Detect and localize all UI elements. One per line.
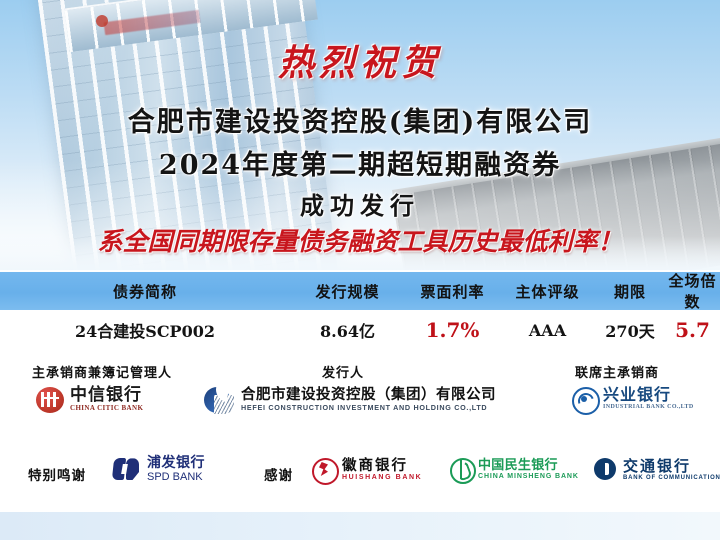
success-line: 成功发行	[0, 186, 720, 221]
hefei-group-icon	[204, 386, 234, 414]
bond-table-header: 债券简称 发行规模 票面利率 主体评级 期限 全场倍数	[0, 272, 720, 310]
citic-name-cn: 中信银行	[70, 387, 143, 405]
minsheng-bank-icon	[450, 458, 474, 482]
spd-name-cn: 浦发银行	[147, 456, 205, 471]
minsheng-name-cn: 中国民生银行	[478, 459, 579, 473]
logo-china-minsheng-bank: 中国民生银行 CHINA MINSHENG BANK	[450, 458, 579, 482]
industrial-bank-name-cn: 兴业银行	[603, 387, 694, 404]
col-header-issue-size: 发行规模	[290, 281, 405, 302]
bocom-icon	[594, 458, 618, 482]
bottom-accent-strip	[0, 512, 720, 540]
hero-text-block: 热烈祝贺 合肥市建设投资控股(集团)有限公司 2024年度第二期超短期融资券 成…	[0, 0, 720, 270]
label-lead-underwriter: 主承销商兼簿记管理人	[32, 362, 172, 381]
industrial-bank-icon	[572, 386, 598, 412]
hefei-name-cn: 合肥市建设投资控股（集团）有限公司	[241, 388, 496, 403]
participants-section: 主承销商兼簿记管理人 发行人 联席主承销商 中信银行 CHINA CITIC B…	[0, 350, 720, 540]
hefei-name-en: HEFEI CONSTRUCTION INVESTMENT AND HOLDIN…	[241, 404, 496, 412]
cell-issue-size: 8.64亿	[290, 318, 405, 342]
industrial-bank-name-en: INDUSTRIAL BANK CO.,LTD	[603, 404, 694, 411]
col-header-coupon-rate: 票面利率	[405, 281, 500, 302]
minsheng-name-en: CHINA MINSHENG BANK	[478, 473, 579, 481]
label-thanks: 感谢	[264, 464, 293, 484]
logo-industrial-bank: 兴业银行 INDUSTRIAL BANK CO.,LTD	[572, 386, 694, 412]
label-joint-underwriter: 联席主承销商	[575, 362, 659, 381]
role-labels-row: 主承销商兼簿记管理人 发行人 联席主承销商	[0, 362, 720, 378]
huishang-bank-icon	[312, 458, 337, 483]
citic-bank-icon	[36, 386, 64, 414]
cell-bond-name: 24合建投SCP002	[0, 318, 290, 342]
cell-issuer-rating: AAA	[500, 321, 595, 340]
company-name-line: 合肥市建设投资控股(集团)有限公司	[0, 100, 720, 139]
table-header-row: 债券简称 发行规模 票面利率 主体评级 期限 全场倍数	[0, 272, 720, 310]
label-special-thanks: 特别鸣谢	[28, 464, 86, 484]
thanks-row: 特别鸣谢 感谢 浦发银行 SPD BANK	[0, 454, 720, 494]
logo-huishang-bank: 徽商银行 HUISHANG BANK	[312, 458, 422, 483]
logo-spd-bank: 浦发银行 SPD BANK	[112, 456, 205, 483]
col-header-issuer-rating: 主体评级	[500, 281, 595, 302]
table-row: 24合建投SCP002 8.64亿 1.7% AAA 270天 5.7	[0, 310, 720, 350]
huishang-name-en: HUISHANG BANK	[342, 474, 422, 482]
hero-photo: 热烈祝贺 合肥市建设投资控股(集团)有限公司 2024年度第二期超短期融资券 成…	[0, 0, 720, 270]
cell-subscription-multiple: 5.7	[665, 318, 720, 342]
cell-term: 270天	[595, 318, 665, 342]
logo-bank-of-communications: 交通银行 BANK OF COMMUNICATIONS	[594, 458, 720, 482]
citic-name-en: CHINA CITIC BANK	[70, 405, 143, 413]
spd-name-en: SPD BANK	[147, 471, 205, 483]
lowest-rate-claim: 系全国同期限存量债务融资工具历史最低利率！	[0, 222, 720, 258]
cell-coupon-rate: 1.7%	[405, 318, 500, 342]
col-header-bond-name: 债券简称	[0, 281, 290, 302]
bond-table-body: 24合建投SCP002 8.64亿 1.7% AAA 270天 5.7	[0, 310, 720, 350]
congratulation-poster: 热烈祝贺 合肥市建设投资控股(集团)有限公司 2024年度第二期超短期融资券 成…	[0, 0, 720, 540]
bond-issue-line: 2024年度第二期超短期融资券	[0, 143, 720, 182]
congrats-headline: 热烈祝贺	[0, 34, 720, 86]
spd-bank-icon	[112, 456, 142, 482]
logo-china-citic-bank: 中信银行 CHINA CITIC BANK	[36, 386, 143, 414]
bocom-name-en: BANK OF COMMUNICATIONS	[623, 475, 720, 482]
col-header-subscription-multiple: 全场倍数	[665, 270, 720, 312]
huishang-name-cn: 徽商银行	[342, 459, 422, 474]
bocom-name-cn: 交通银行	[623, 459, 720, 475]
col-header-term: 期限	[595, 281, 665, 302]
logo-hefei-construction-investment: 合肥市建设投资控股（集团）有限公司 HEFEI CONSTRUCTION INV…	[204, 386, 496, 414]
label-issuer: 发行人	[322, 362, 364, 381]
